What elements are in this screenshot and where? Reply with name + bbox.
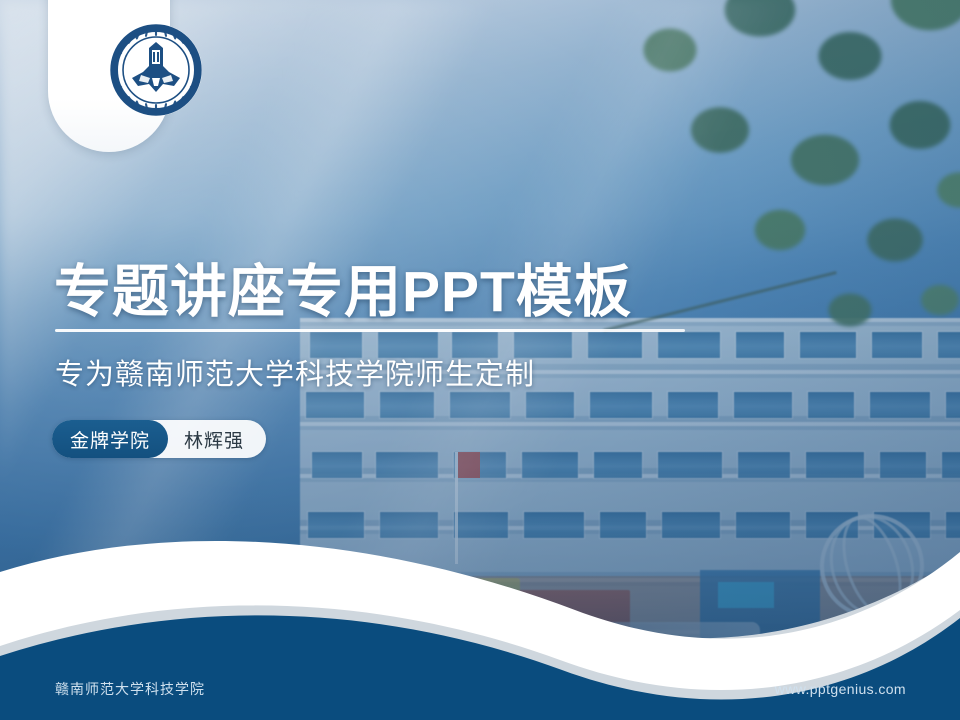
title-divider	[55, 329, 685, 332]
presentation-title-slide: 专题讲座专用PPT模板 专为赣南师范大学科技学院师生定制 金牌学院 林辉强 赣南…	[0, 0, 960, 720]
footer-institution: 赣南师范大学科技学院	[55, 679, 205, 699]
presenter-badge: 金牌学院 林辉强	[52, 420, 266, 458]
logo-tab	[48, 0, 170, 152]
badge-tag-label: 金牌学院	[52, 420, 168, 458]
page-title: 专题讲座专用PPT模板	[54, 246, 632, 328]
university-seal-logo	[108, 22, 204, 118]
footer-website[interactable]: www.pptgenius.com	[775, 681, 906, 697]
page-subtitle: 专为赣南师范大学科技学院师生定制	[55, 351, 535, 393]
presenter-name: 林辉强	[168, 420, 266, 458]
